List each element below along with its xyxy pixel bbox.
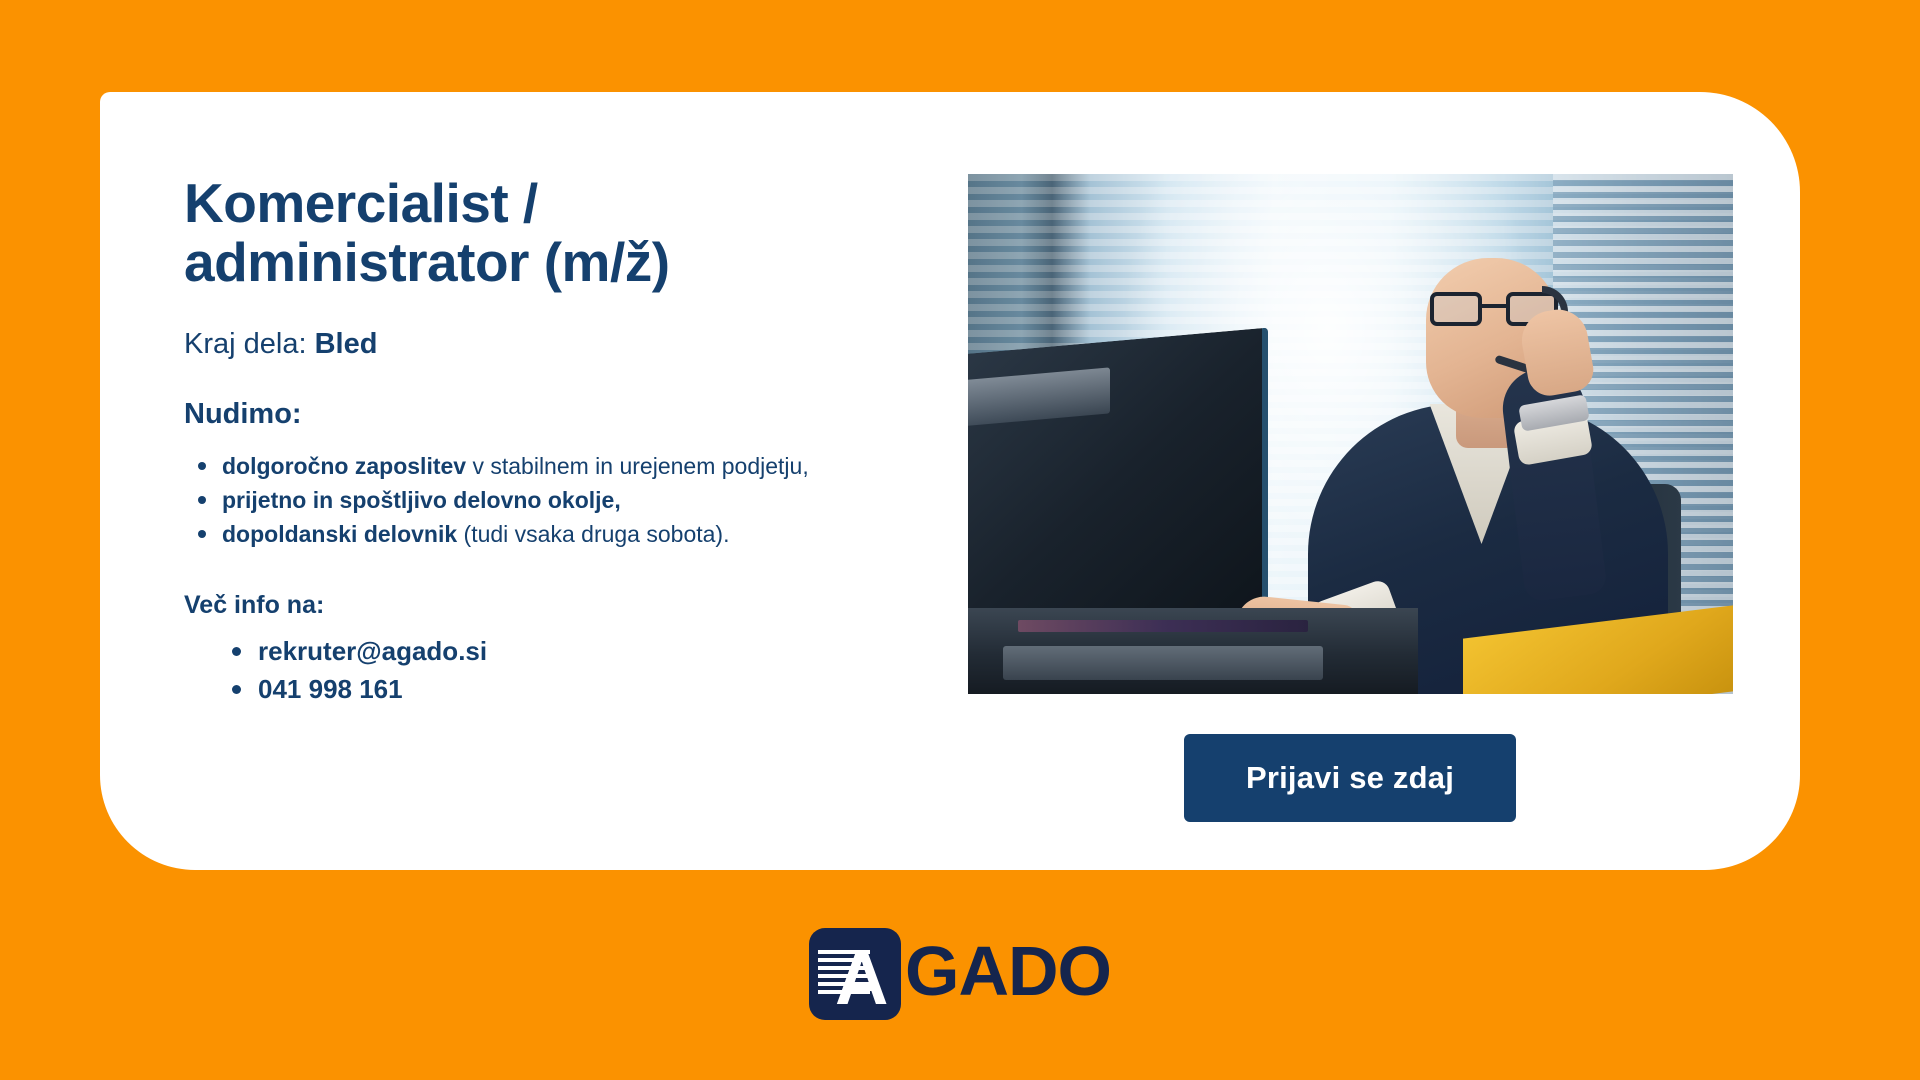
offer-list: dolgoročno zaposlitev v stabilnem in ure… [184,449,900,551]
contact-phone[interactable]: 041 998 161 [258,674,403,704]
job-details-column: Komercialist / administrator (m/ž) Kraj … [100,92,900,870]
list-item: prijetno in spoštljivo delovno okolje, [192,483,900,517]
job-location-value: Bled [315,328,378,360]
offer-item-rest: (tudi vsaka druga sobota). [457,521,729,547]
offer-heading: Nudimo: [184,398,900,431]
glasses-bridge [1482,304,1506,308]
apply-now-button[interactable]: Prijavi se zdaj [1184,734,1516,822]
card-content: Komercialist / administrator (m/ž) Kraj … [100,92,1800,870]
more-info-heading: Več info na: [184,591,900,620]
desk-and-keyboard-icon [968,608,1418,694]
contact-email[interactable]: rekruter@agado.si [258,636,487,666]
list-item[interactable]: 041 998 161 [228,670,900,708]
job-location: Kraj dela: Bled [184,327,900,362]
agado-logo: A GADO [0,928,1920,1020]
glasses-left-lens [1430,292,1482,326]
agado-logo-mark-icon: A [809,928,901,1020]
cta-container: Prijavi se zdaj [968,734,1733,822]
media-column: Prijavi se zdaj [900,92,1800,870]
contact-list: rekruter@agado.si 041 998 161 [184,632,900,709]
offer-item-bold: dolgoročno zaposlitev [222,453,466,479]
logo-letter-a: A [835,942,886,1016]
offer-item-bold: dopoldanski delovnik [222,521,457,547]
job-ad-card: Komercialist / administrator (m/ž) Kraj … [100,92,1800,870]
offer-item-rest: v stabilnem in urejenem podjetju, [466,453,809,479]
list-item: dolgoročno zaposlitev v stabilnem in ure… [192,449,900,483]
offer-item-bold: prijetno in spoštljivo delovno okolje, [222,487,621,513]
job-location-label: Kraj dela: [184,328,307,360]
page-title: Komercialist / administrator (m/ž) [184,174,824,293]
logo-wordmark: GADO [905,936,1111,1012]
list-item: dopoldanski delovnik (tudi vsaka druga s… [192,517,900,551]
list-item[interactable]: rekruter@agado.si [228,632,900,670]
call-center-agent-photo [968,174,1733,694]
